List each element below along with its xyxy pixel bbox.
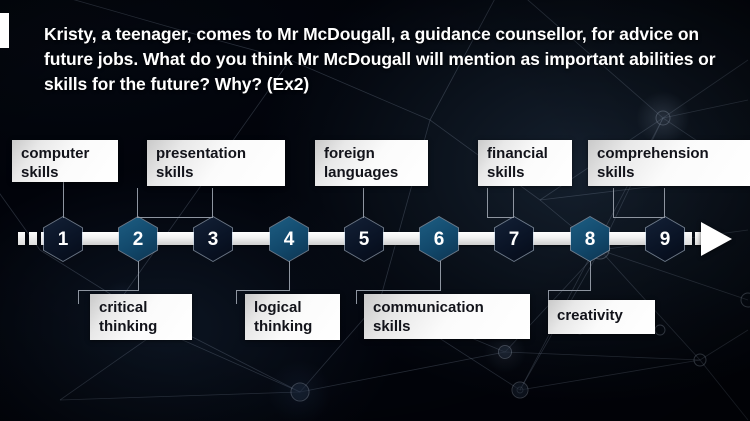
label-creativity[interactable]: creativity [548, 300, 655, 334]
node-number-label: 6 [434, 230, 445, 249]
label-critical-thinking[interactable]: critical thinking [90, 294, 192, 340]
node-number-label: 9 [660, 230, 671, 249]
timeline-node-8[interactable]: 8 [571, 217, 609, 261]
timeline-node-9[interactable]: 9 [646, 217, 684, 261]
node-number-label: 8 [585, 230, 596, 249]
timeline-node-3[interactable]: 3 [194, 217, 232, 261]
timeline-node-1[interactable]: 1 [44, 217, 82, 261]
slide-canvas: Kristy, a teenager, comes to Mr McDougal… [0, 0, 750, 421]
timeline-start-dash-2 [29, 232, 37, 245]
timeline-node-6[interactable]: 6 [420, 217, 458, 261]
label-logical-thinking[interactable]: logical thinking [245, 294, 340, 340]
timeline-node-4[interactable]: 4 [270, 217, 308, 261]
node-number-label: 2 [133, 230, 144, 249]
timeline-arrow-icon [701, 222, 732, 256]
node-number-label: 7 [509, 230, 520, 249]
label-financial-skills[interactable]: financial skills [478, 140, 572, 186]
timeline-graphic: 1 2 3 4 5 6 7 8 9 [0, 0, 750, 421]
label-foreign-languages[interactable]: foreign languages [315, 140, 428, 186]
timeline-rail-segment [607, 232, 650, 245]
timeline-node-2[interactable]: 2 [119, 217, 157, 261]
timeline-rail-segment [381, 232, 424, 245]
label-communication-skills[interactable]: communication skills [364, 294, 530, 339]
timeline-rail-segment [456, 232, 499, 245]
node-number-label: 1 [58, 230, 69, 249]
timeline-rail-segment [531, 232, 574, 245]
label-comprehension-skills[interactable]: comprehension skills [588, 140, 750, 186]
timeline-start-dash-1 [18, 232, 25, 245]
timeline-rail-segment [306, 232, 349, 245]
timeline-rail-segment [230, 232, 273, 245]
label-computer-skills[interactable]: computer skills [12, 140, 118, 182]
timeline-rail-segment [155, 232, 198, 245]
timeline-rail-segment [80, 232, 123, 245]
node-number-label: 4 [284, 230, 295, 249]
timeline-node-5[interactable]: 5 [345, 217, 383, 261]
node-number-label: 3 [208, 230, 219, 249]
node-number-label: 5 [359, 230, 370, 249]
label-presentation-skills[interactable]: presentation skills [147, 140, 285, 186]
timeline-node-7[interactable]: 7 [495, 217, 533, 261]
